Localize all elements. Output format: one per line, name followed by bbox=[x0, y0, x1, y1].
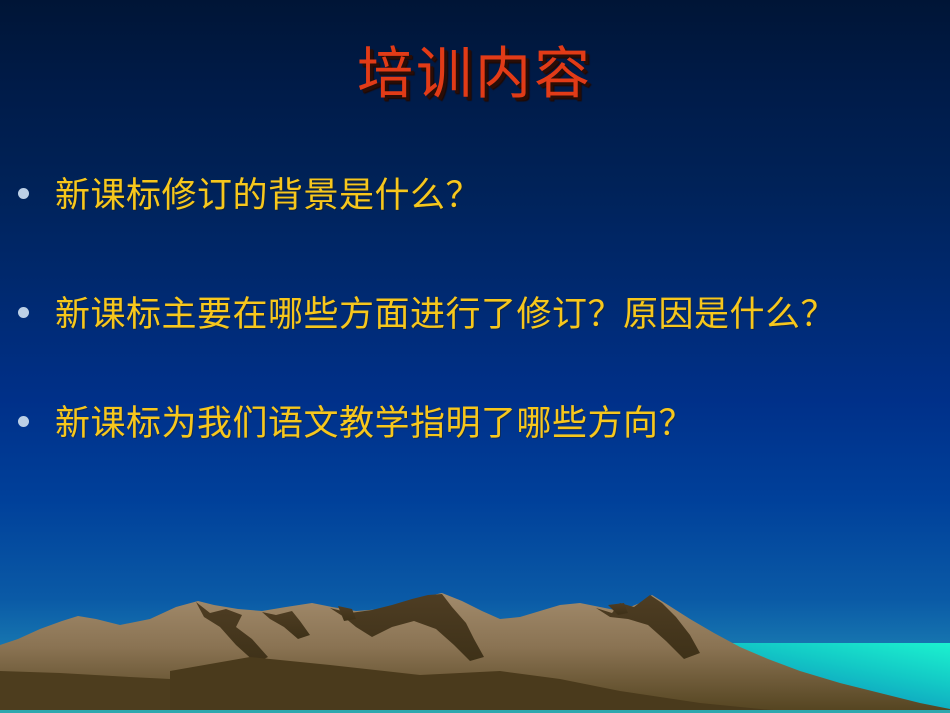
bullet-text: 新课标修订的背景是什么？ bbox=[34, 170, 932, 223]
slide-body-bullet-list: 新课标修订的背景是什么？ 新课标主要在哪些方面进行了修订？原因是什么？ 新课标为… bbox=[18, 170, 932, 452]
list-item: 新课标修订的背景是什么？ bbox=[18, 170, 932, 223]
presentation-slide: 培训内容 新课标修订的背景是什么？ 新课标主要在哪些方面进行了修订？原因是什么？… bbox=[0, 0, 950, 713]
bullet-dot-icon bbox=[18, 307, 29, 318]
slide-title: 培训内容 bbox=[0, 44, 950, 107]
list-item: 新课标为我们语文教学指明了哪些方向？ bbox=[18, 398, 932, 451]
bullet-text: 新课标为我们语文教学指明了哪些方向？ bbox=[34, 398, 932, 451]
bullet-dot-icon bbox=[18, 188, 29, 199]
bullet-text: 新课标主要在哪些方面进行了修订？原因是什么？ bbox=[34, 289, 932, 342]
list-item: 新课标主要在哪些方面进行了修订？原因是什么？ bbox=[18, 289, 932, 342]
mountain-range-decoration bbox=[0, 553, 950, 713]
mountain-range-illustration bbox=[0, 553, 950, 713]
bullet-dot-icon bbox=[18, 416, 29, 427]
